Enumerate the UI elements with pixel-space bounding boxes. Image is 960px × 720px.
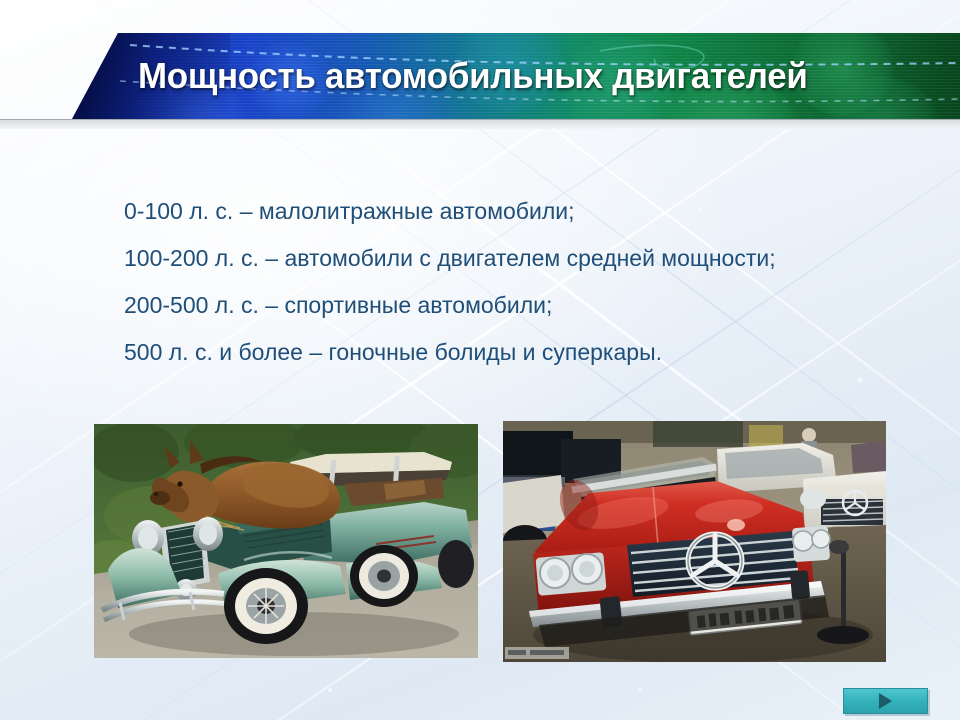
presentation-slide: Мощность автомобильных двигателей 0-100 … (0, 0, 960, 720)
page-title: Мощность автомобильных двигателей (138, 33, 807, 119)
body-line: 100-200 л. с. – автомобили с двигателем … (124, 235, 914, 282)
body-line: 500 л. с. и более – гоночные болиды и су… (124, 329, 914, 376)
red-mercedes-convertible-photo (503, 421, 886, 662)
banner-gradient: Мощность автомобильных двигателей (0, 33, 960, 119)
next-slide-button[interactable] (843, 688, 928, 714)
banner-underline-strip (0, 119, 960, 129)
body-line: 200-500 л. с. – спортивные автомобили; (124, 282, 914, 329)
body-line: 0-100 л. с. – малолитражные автомобили; (124, 188, 914, 235)
bokeh-circle (0, 51, 65, 119)
title-banner: Мощность автомобильных двигателей (0, 33, 960, 119)
vintage-green-car-with-horse-photo (94, 424, 478, 658)
play-triangle-icon (879, 693, 892, 709)
body-text-block: 0-100 л. с. – малолитражные автомобили; … (124, 188, 914, 376)
